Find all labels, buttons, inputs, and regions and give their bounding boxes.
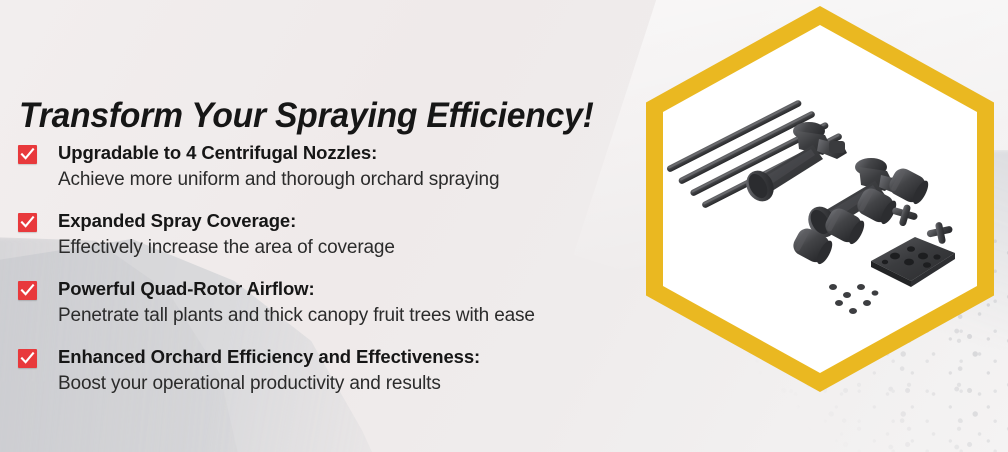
red-checkbox-icon: [18, 145, 37, 164]
feature-description: Achieve more uniform and thorough orchar…: [58, 167, 718, 192]
list-item: Upgradable to 4 Centrifugal Nozzles: Ach…: [18, 141, 718, 192]
feature-list: Upgradable to 4 Centrifugal Nozzles: Ach…: [18, 141, 718, 396]
feature-title: Upgradable to 4 Centrifugal Nozzles:: [58, 141, 718, 164]
centrifugal-nozzle-arm: [741, 122, 847, 206]
t-connector: [925, 220, 955, 247]
red-checkbox-icon: [18, 213, 37, 232]
product-hexagon-badge: [646, 6, 994, 392]
feature-title: Enhanced Orchard Efficiency and Effectiv…: [58, 345, 718, 368]
page-title: Transform Your Spraying Efficiency!: [19, 96, 594, 136]
mounting-plate: [871, 237, 955, 287]
feature-title: Powerful Quad-Rotor Airflow:: [58, 277, 718, 300]
screw-set: [829, 284, 878, 314]
list-item: Expanded Spray Coverage: Effectively inc…: [18, 209, 718, 260]
feature-description: Effectively increase the area of coverag…: [58, 235, 718, 260]
promo-slide: Transform Your Spraying Efficiency! Upgr…: [0, 0, 1008, 452]
red-checkbox-icon: [18, 281, 37, 300]
feature-description: Penetrate tall plants and thick canopy f…: [58, 303, 718, 328]
feature-description: Boost your operational productivity and …: [58, 371, 718, 396]
feature-title: Expanded Spray Coverage:: [58, 209, 718, 232]
red-checkbox-icon: [18, 349, 37, 368]
list-item: Enhanced Orchard Efficiency and Effectiv…: [18, 345, 718, 396]
list-item: Powerful Quad-Rotor Airflow: Penetrate t…: [18, 277, 718, 328]
